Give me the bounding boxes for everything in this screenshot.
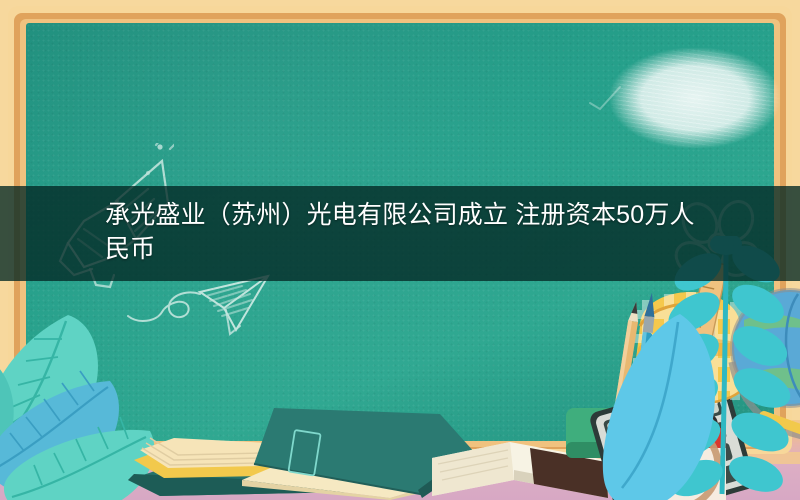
illustration-canvas: 64 1 [0, 0, 800, 500]
chalk-smear-strokes [610, 48, 780, 148]
page-title: 承光盛业（苏州）光电有限公司成立 注册资本50万人民币 [105, 198, 705, 266]
leaf-blue-large [600, 310, 740, 500]
